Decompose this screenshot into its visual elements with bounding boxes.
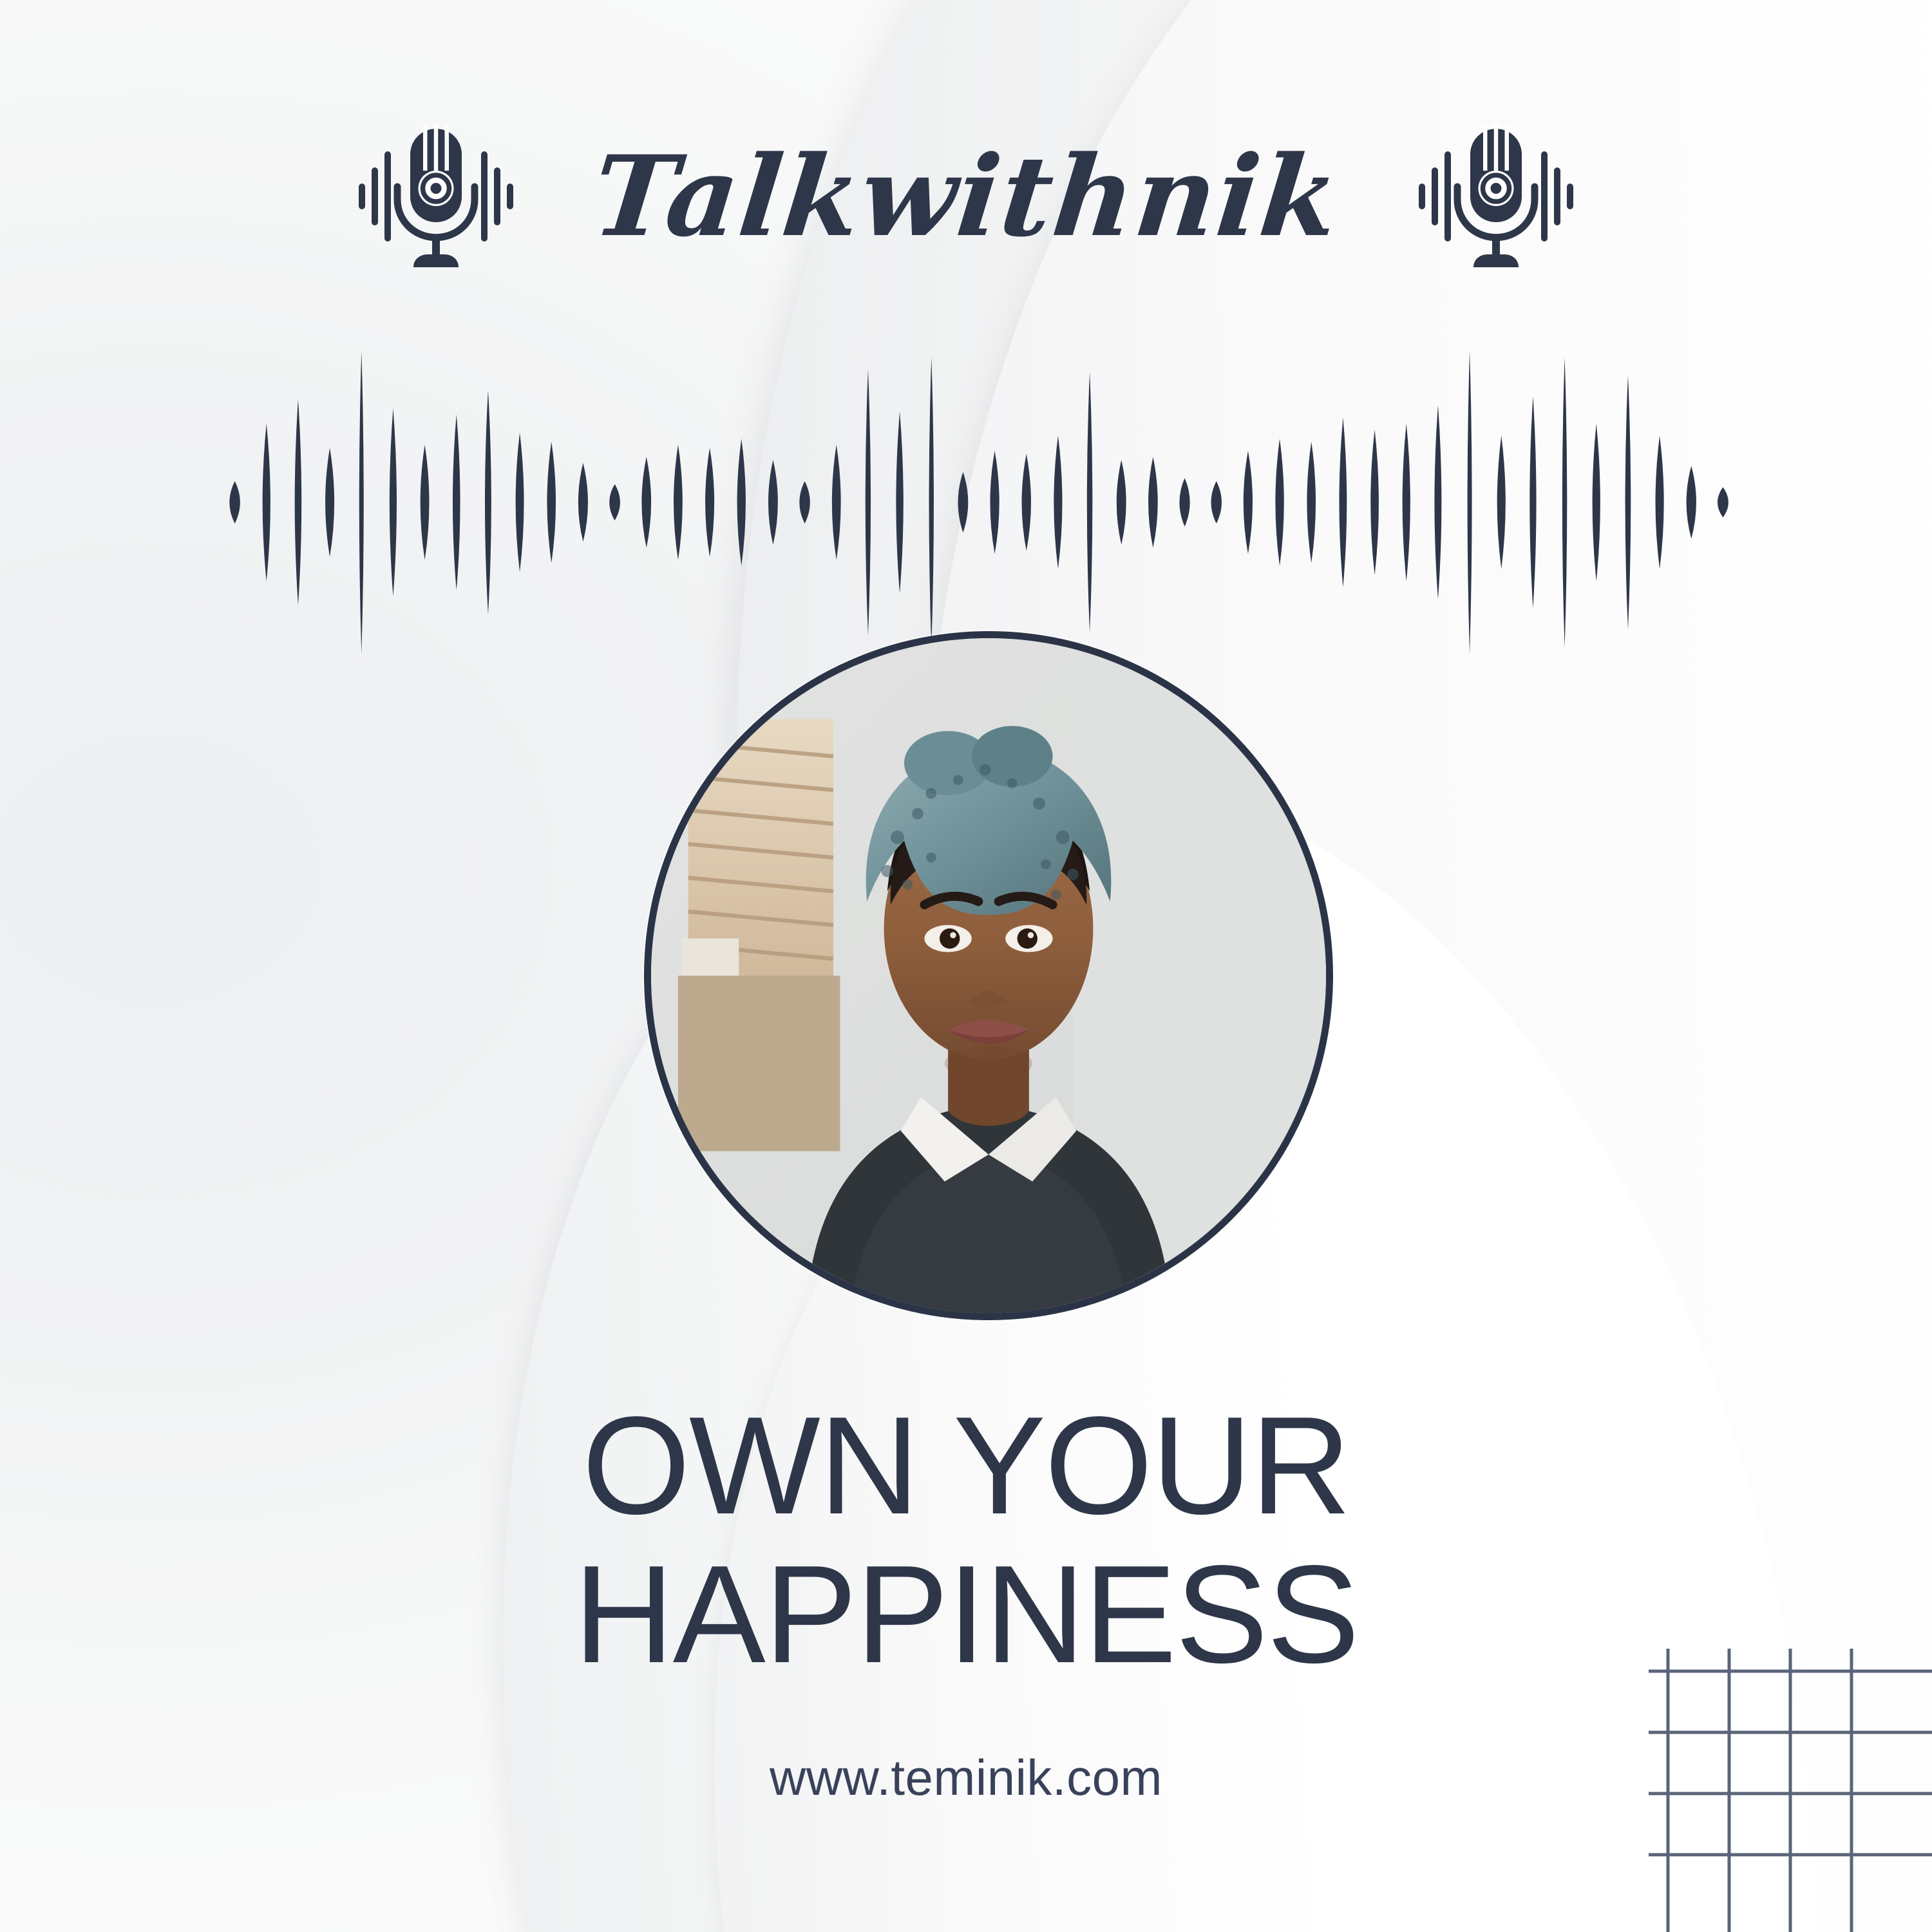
waveform-bar (1179, 478, 1189, 526)
page-title: OWN YOUR HAPPINESS (0, 1391, 1932, 1689)
waveform-bar (359, 351, 364, 654)
waveform-bar (578, 463, 588, 542)
waveform-bar (1054, 436, 1062, 569)
waveform-bar (1339, 417, 1347, 587)
waveform-bar (1087, 372, 1093, 633)
waveform-bar (768, 460, 778, 545)
poster-canvas: Talkwithnik (0, 0, 1932, 1932)
waveform-bar (705, 448, 714, 556)
waveform-bar (1244, 451, 1253, 554)
waveform-bar (866, 369, 871, 636)
waveform-bar (929, 357, 934, 648)
waveform-bar (485, 390, 491, 614)
waveform-bar (390, 408, 397, 596)
waveform-bar (1211, 481, 1222, 524)
waveform-bar (325, 448, 334, 556)
waveform-bar (295, 399, 302, 605)
waveform-bar (1434, 405, 1441, 599)
brand-name-text: Talkwithnik (587, 141, 1344, 252)
waveform-bar (990, 451, 999, 554)
waveform-bar (516, 433, 524, 572)
waveform-bar (1593, 424, 1600, 582)
waveform-bar (737, 439, 746, 566)
brand-header: Talkwithnik (0, 116, 1932, 277)
waveform-bar (1687, 466, 1696, 539)
waveform-bar (1148, 457, 1158, 547)
headline-line-2: HAPPINESS (0, 1540, 1932, 1689)
waveform-bar (1529, 396, 1536, 608)
waveform-bar (1307, 442, 1316, 563)
waveform-bar (1497, 436, 1506, 569)
waveform-bar (1275, 439, 1283, 566)
waveform-bar (1468, 351, 1472, 654)
waveform-bar (832, 445, 841, 560)
podcast-microphone-icon (1416, 116, 1577, 277)
waveform-bar (1625, 375, 1631, 629)
waveform-bar (1117, 460, 1126, 545)
waveform-bar (674, 445, 683, 560)
waveform-bar (641, 457, 651, 547)
host-portrait-avatar (644, 631, 1333, 1320)
waveform-bar (1562, 357, 1567, 648)
waveform-bar (547, 442, 556, 563)
waveform-bar (799, 481, 810, 524)
waveform-bar (1656, 436, 1664, 569)
waveform-bar (263, 424, 270, 582)
waveform-bar (609, 484, 620, 520)
waveform-bar (896, 412, 903, 593)
website-url[interactable]: www.teminik.com (0, 1748, 1932, 1807)
audio-waveform-chart (219, 348, 1739, 657)
waveform-bar (421, 445, 430, 560)
waveform-bar (1403, 424, 1410, 582)
waveform-bar (229, 481, 240, 524)
grid-pattern-icon (1649, 1649, 1932, 1932)
waveform-bar (1718, 487, 1728, 517)
waveform-bar (1022, 454, 1031, 551)
waveform-bar (453, 415, 460, 591)
headline-line-1: OWN YOUR (0, 1391, 1932, 1540)
waveform-bar (958, 472, 969, 533)
podcast-microphone-icon (355, 116, 516, 277)
waveform-bar (1370, 430, 1379, 575)
